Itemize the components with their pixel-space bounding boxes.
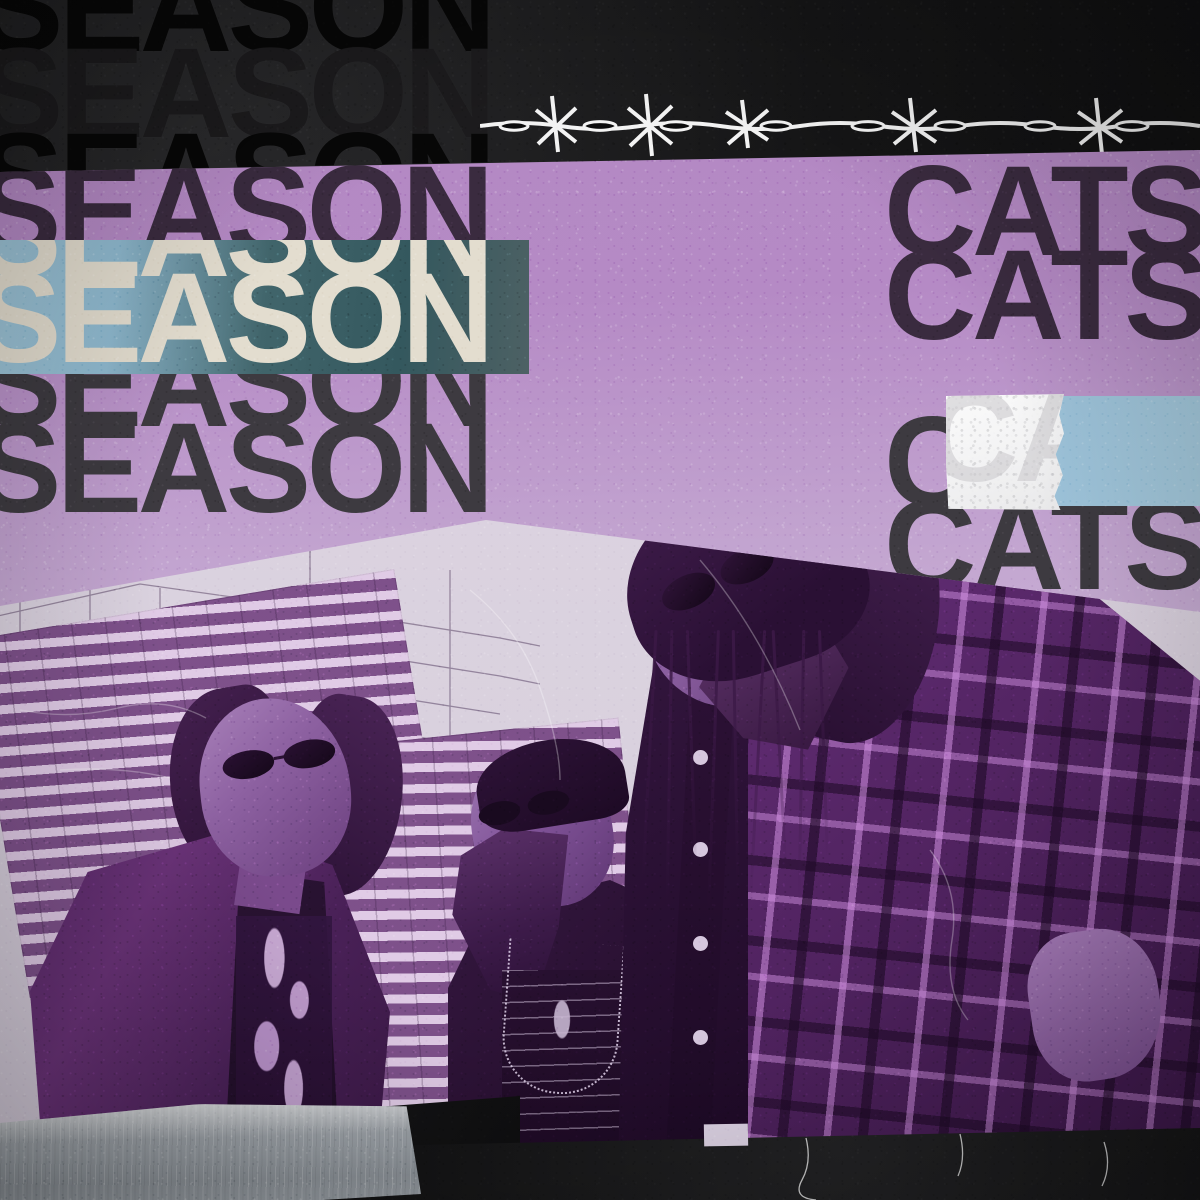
- album-cover: SEASON SEASON SEASON: [0, 0, 1200, 1200]
- band-member-left: [30, 670, 450, 1160]
- band-member-front: [600, 520, 1200, 1160]
- torn-paper-patch: CATS: [946, 394, 1064, 510]
- teal-box-type: SEASON SEASON SEASON SEASON: [0, 240, 490, 350]
- season-word-row-cream: SEASON: [0, 265, 490, 373]
- hair-strands: [642, 630, 862, 910]
- paper-sticker: [704, 1124, 748, 1147]
- band-photo-panel: [0, 520, 1200, 1160]
- season-word-row: SEASON: [0, 415, 490, 523]
- cats-word-row: CATS: [884, 242, 1200, 350]
- teal-highlight-box: SEASON SEASON SEASON SEASON: [0, 240, 529, 374]
